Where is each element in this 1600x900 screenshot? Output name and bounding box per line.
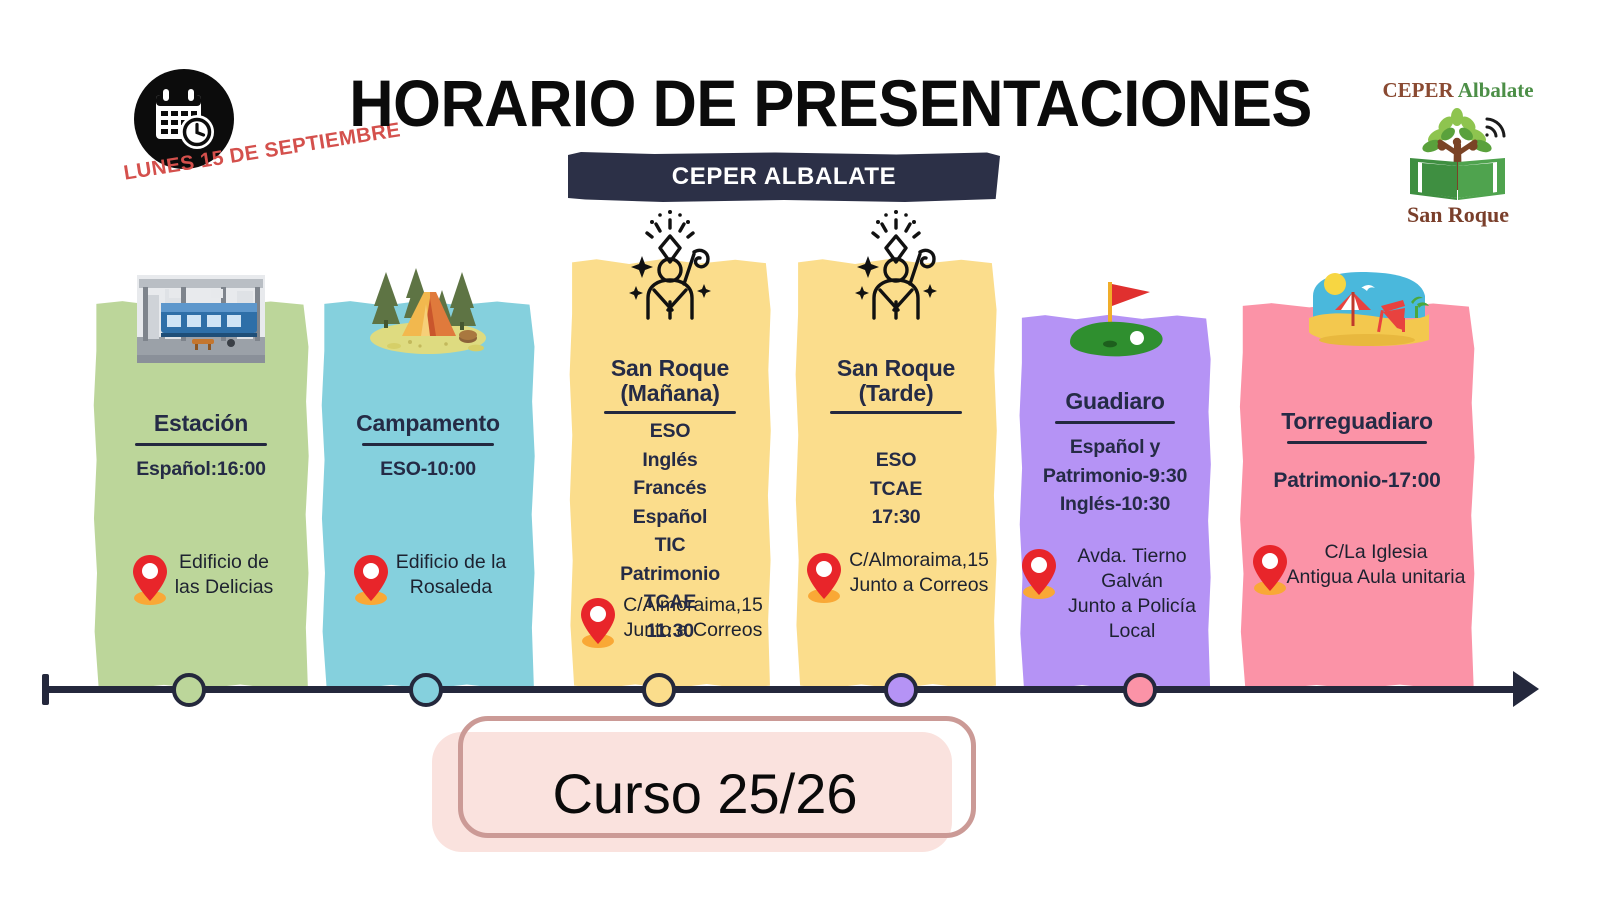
timeline-dot[interactable] <box>409 673 443 707</box>
subject: Español y <box>1024 433 1206 462</box>
subject: Inglés <box>574 446 766 475</box>
card-estacion[interactable]: Estación Español:16:00 Edificio de las D… <box>92 300 310 690</box>
map-pin-icon <box>1249 542 1291 601</box>
train-station-icon <box>137 275 265 368</box>
subject: TCAE <box>574 588 766 617</box>
logo: CEPER Albalate <box>1358 64 1558 234</box>
card-divider <box>830 411 962 414</box>
beach-icon <box>1299 266 1435 357</box>
subject-time: 17:30 <box>800 503 992 532</box>
map-pin-icon <box>803 550 845 609</box>
card-title: San Roque (Mañana) <box>574 356 766 406</box>
logo-san-roque: San Roque <box>1358 202 1558 228</box>
ribbon-label: CEPER ALBALATE <box>672 163 896 191</box>
subject: ESO <box>574 417 766 446</box>
card-divider <box>1055 421 1175 424</box>
card-location: Avda. Tierno Galván Junto a Policía Loca… <box>1018 544 1212 644</box>
card-title: Campamento <box>326 410 530 436</box>
map-pin-icon <box>129 552 171 611</box>
saint-bishop-icon <box>614 206 726 329</box>
card-location: C/La Iglesia Antigua Aula unitaria <box>1238 540 1476 601</box>
subject-time: 11:30 <box>574 617 766 646</box>
card-address: C/Almoraima,15 Junto a Correos <box>849 548 989 598</box>
card-subject-list: ESO Inglés Francés Español TIC Patrimoni… <box>574 417 766 645</box>
card-subject-list: ESO TCAE 17:30 <box>800 446 992 532</box>
subject: Español <box>574 503 766 532</box>
card-divider <box>1287 441 1427 444</box>
timeline-dot[interactable] <box>172 673 206 707</box>
card-line: Patrimonio-17:00 <box>1244 466 1470 495</box>
timeline-axis <box>42 686 1522 693</box>
subject: Patrimonio-9:30 <box>1024 462 1206 491</box>
tree-on-book-icon <box>1398 102 1518 206</box>
card-location: C/Almoraima,15 Junto a Correos <box>794 548 998 609</box>
card-divider <box>604 411 736 414</box>
card-san-roque-manana[interactable]: San Roque (Mañana) ESO Inglés Francés Es… <box>568 258 772 690</box>
course-banner: Curso 25/26 <box>432 716 978 856</box>
card-torreguadiaro[interactable]: Torreguadiaro Patrimonio-17:00 C/La Igle… <box>1238 302 1476 690</box>
card-title: Estación <box>98 410 304 436</box>
card-campamento[interactable]: Campamento ESO-10:00 Edificio de la Rosa… <box>320 300 536 690</box>
subject: TCAE <box>800 475 992 504</box>
card-title: San Roque (Tarde) <box>800 356 992 406</box>
infographic-canvas: LUNES 15 DE SEPTIEMBRE HORARIO DE PRESEN… <box>0 0 1600 900</box>
card-location: Edificio de la Rosaleda <box>320 550 536 611</box>
card-address: C/La Iglesia Antigua Aula unitaria <box>1287 540 1466 590</box>
wifi-icon <box>1485 119 1504 137</box>
subject: ESO <box>800 446 992 475</box>
golf-green-icon <box>1050 272 1180 369</box>
card-title: Torreguadiaro <box>1244 408 1470 434</box>
card-address: Edificio de las Delicias <box>175 550 274 600</box>
card-divider <box>362 443 494 446</box>
timeline-dot[interactable] <box>642 673 676 707</box>
card-address: Avda. Tierno Galván Junto a Policía Loca… <box>1052 544 1212 644</box>
timeline-arrow-icon <box>1513 671 1539 707</box>
subject: Inglés-10:30 <box>1024 490 1206 519</box>
map-pin-icon <box>350 552 392 611</box>
subject: Patrimonio <box>574 560 766 589</box>
card-line: Español:16:00 <box>98 455 304 484</box>
subject: TIC <box>574 531 766 560</box>
card-guadiaro[interactable]: Guadiaro Español y Patrimonio-9:30 Inglé… <box>1018 314 1212 690</box>
subject: Francés <box>574 474 766 503</box>
saint-bishop-icon <box>840 206 952 329</box>
logo-top-text: CEPER Albalate <box>1358 78 1558 103</box>
card-subject-list: Español y Patrimonio-9:30 Inglés-10:30 <box>1024 433 1206 519</box>
card-line: ESO-10:00 <box>326 455 530 484</box>
camping-tent-icon <box>364 262 492 361</box>
logo-ceper: CEPER <box>1382 78 1453 102</box>
card-location: Edificio de las Delicias <box>92 550 310 611</box>
timeline-dot[interactable] <box>1123 673 1157 707</box>
card-divider <box>135 443 267 446</box>
card-title: Guadiaro <box>1024 388 1206 414</box>
card-address: Edificio de la Rosaleda <box>396 550 507 600</box>
banner-label: Curso 25/26 <box>432 734 978 852</box>
center-ribbon: CEPER ALBALATE <box>568 152 1000 202</box>
page-title: HORARIO DE PRESENTACIONES <box>349 66 1260 140</box>
card-san-roque-tarde[interactable]: San Roque (Tarde) ESO TCAE 17:30 C/Almor… <box>794 258 998 690</box>
timeline-dot[interactable] <box>884 673 918 707</box>
logo-albalate: Albalate <box>1458 78 1534 102</box>
